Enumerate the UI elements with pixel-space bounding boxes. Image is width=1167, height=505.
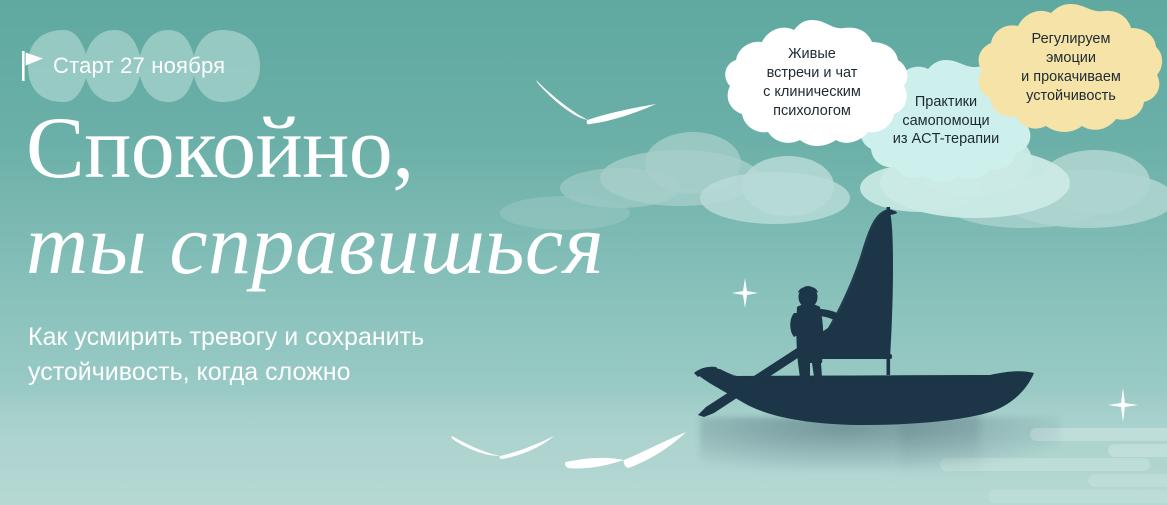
sparkle-star-icon bbox=[1108, 388, 1138, 422]
subtitle: Как усмирить тревогу и сохранить устойчи… bbox=[28, 320, 588, 389]
headline-line-1: Спокойно, bbox=[26, 104, 726, 194]
sailboat-silhouette bbox=[690, 185, 1090, 445]
feature-bubble-emotion-regulation: Регулируем эмоции и прокачиваем устойчив… bbox=[978, 2, 1164, 134]
bubble-text: Регулируем эмоции и прокачиваем устойчив… bbox=[1015, 30, 1127, 105]
flag-icon bbox=[22, 51, 44, 81]
feature-bubble-live-sessions: Живые встречи и чат с клиническим психол… bbox=[714, 18, 910, 148]
headline-line-2: ты справишься bbox=[26, 194, 726, 295]
seagull-icon bbox=[448, 430, 558, 470]
start-date-badge: Старт 27 ноября bbox=[0, 30, 225, 102]
bubble-text: Живые встречи и чат с клиническим психол… bbox=[757, 45, 867, 120]
page-title: Спокойно, ты справишься bbox=[26, 104, 726, 295]
promo-banner: Старт 27 ноября Спокойно, ты справишься … bbox=[0, 0, 1167, 505]
water-streak bbox=[1088, 474, 1167, 487]
water-streak bbox=[1108, 444, 1167, 457]
sparkle-star-icon bbox=[732, 278, 758, 308]
badge-label: Старт 27 ноября bbox=[53, 53, 225, 79]
water-streak bbox=[988, 490, 1167, 503]
seagull-icon bbox=[562, 430, 692, 482]
